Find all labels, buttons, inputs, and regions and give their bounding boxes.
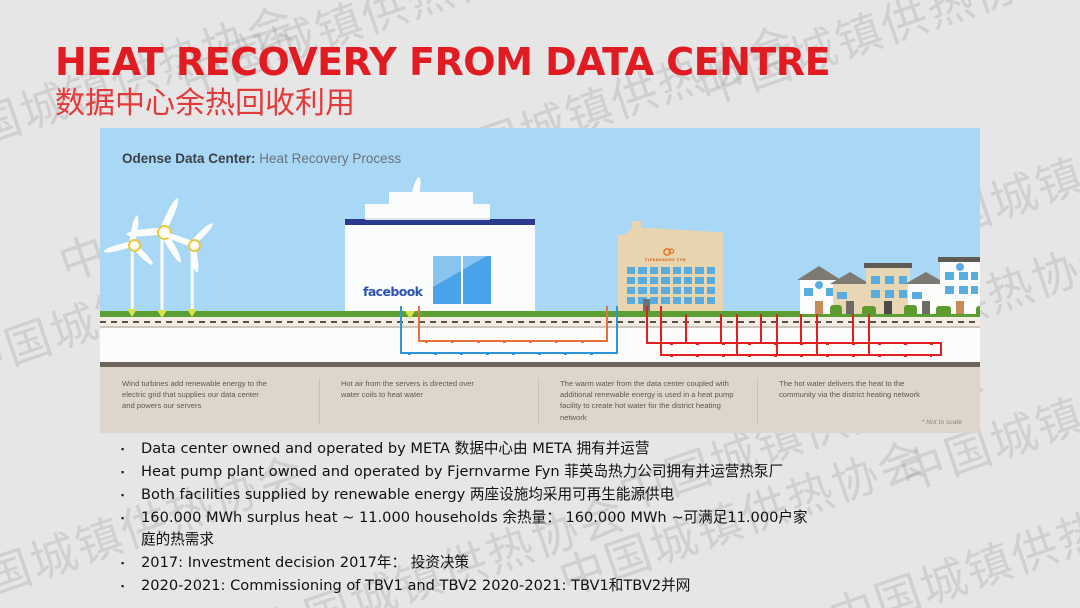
caption-servers: Hot air from the servers is directed ove…: [341, 378, 481, 400]
list-item: ▪2017: Investment decision 2017年： 投资决策: [118, 552, 978, 574]
bullet-marker: ▪: [118, 484, 141, 506]
house-service-pipe: [760, 314, 762, 342]
district-pipe-riser-b: [660, 306, 662, 356]
district-pipe-riser-a: [646, 306, 648, 344]
bullet-marker: ▪: [118, 507, 141, 529]
page-title-chinese: 数据中心余热回收利用: [55, 86, 830, 122]
list-item: ▪2020-2021: Commissioning of TBV1 and TB…: [118, 575, 978, 597]
not-to-scale-note: * Not to scale: [922, 419, 962, 426]
pipe-flow-arrows: [670, 355, 932, 357]
caption-heatpump: The warm water from the data center coup…: [560, 378, 740, 423]
bullet-marker: ▪: [118, 552, 141, 574]
page-title-english: HEAT RECOVERY FROM DATA CENTRE: [55, 42, 830, 82]
heat-recovery-infographic: Odense Data Center: Heat Recovery Proces…: [100, 128, 980, 433]
list-item: ▪Both facilities supplied by renewable e…: [118, 484, 978, 506]
bullet-text: 160.000 MWh surplus heat ~ 11.000 househ…: [141, 507, 811, 551]
pipe-flow-arrows: [670, 343, 936, 345]
bullet-marker: ▪: [118, 575, 141, 597]
caption-divider-3: [757, 378, 758, 424]
house-service-pipe: [816, 314, 818, 354]
caption-divider-2: [538, 378, 539, 424]
house-service-pipe: [800, 314, 802, 342]
caption-community: The hot water delivers the heat to the c…: [779, 378, 929, 400]
district-heating-pipe-network: [100, 128, 980, 373]
warm-pipe-riser-left: [418, 306, 420, 342]
bullet-text: 2020-2021: Commissioning of TBV1 and TBV…: [141, 575, 690, 597]
list-item: ▪Heat pump plant owned and operated by F…: [118, 461, 978, 483]
warm-pipe-riser-right: [606, 306, 608, 342]
bullet-marker: ▪: [118, 461, 141, 483]
bullet-text: 2017: Investment decision 2017年： 投资决策: [141, 552, 469, 574]
plant-service-pipe: [685, 314, 687, 342]
bullet-marker: ▪: [118, 438, 141, 460]
bullet-text: Data center owned and operated by META 数…: [141, 438, 649, 460]
cold-pipe-riser-left: [400, 306, 402, 354]
bullet-list: ▪Data center owned and operated by META …: [118, 438, 978, 598]
house-service-pipe: [868, 314, 870, 354]
house-service-pipe: [776, 314, 778, 354]
title-block: HEAT RECOVERY FROM DATA CENTRE 数据中心余热回收利…: [55, 42, 830, 122]
list-item: ▪160.000 MWh surplus heat ~ 11.000 house…: [118, 507, 978, 551]
house-service-pipe: [720, 314, 722, 342]
caption-wind: Wind turbines add renewable energy to th…: [122, 378, 272, 412]
house-service-pipe: [736, 314, 738, 354]
list-item: ▪Data center owned and operated by META …: [118, 438, 978, 460]
caption-divider-1: [319, 378, 320, 424]
house-service-pipe: [852, 314, 854, 342]
bullet-text: Both facilities supplied by renewable en…: [141, 484, 674, 506]
pipe-flow-arrows: [425, 341, 603, 343]
pipe-flow-arrows: [408, 353, 614, 355]
bullet-text: Heat pump plant owned and operated by Fj…: [141, 461, 783, 483]
cold-pipe-riser-right: [616, 306, 618, 354]
